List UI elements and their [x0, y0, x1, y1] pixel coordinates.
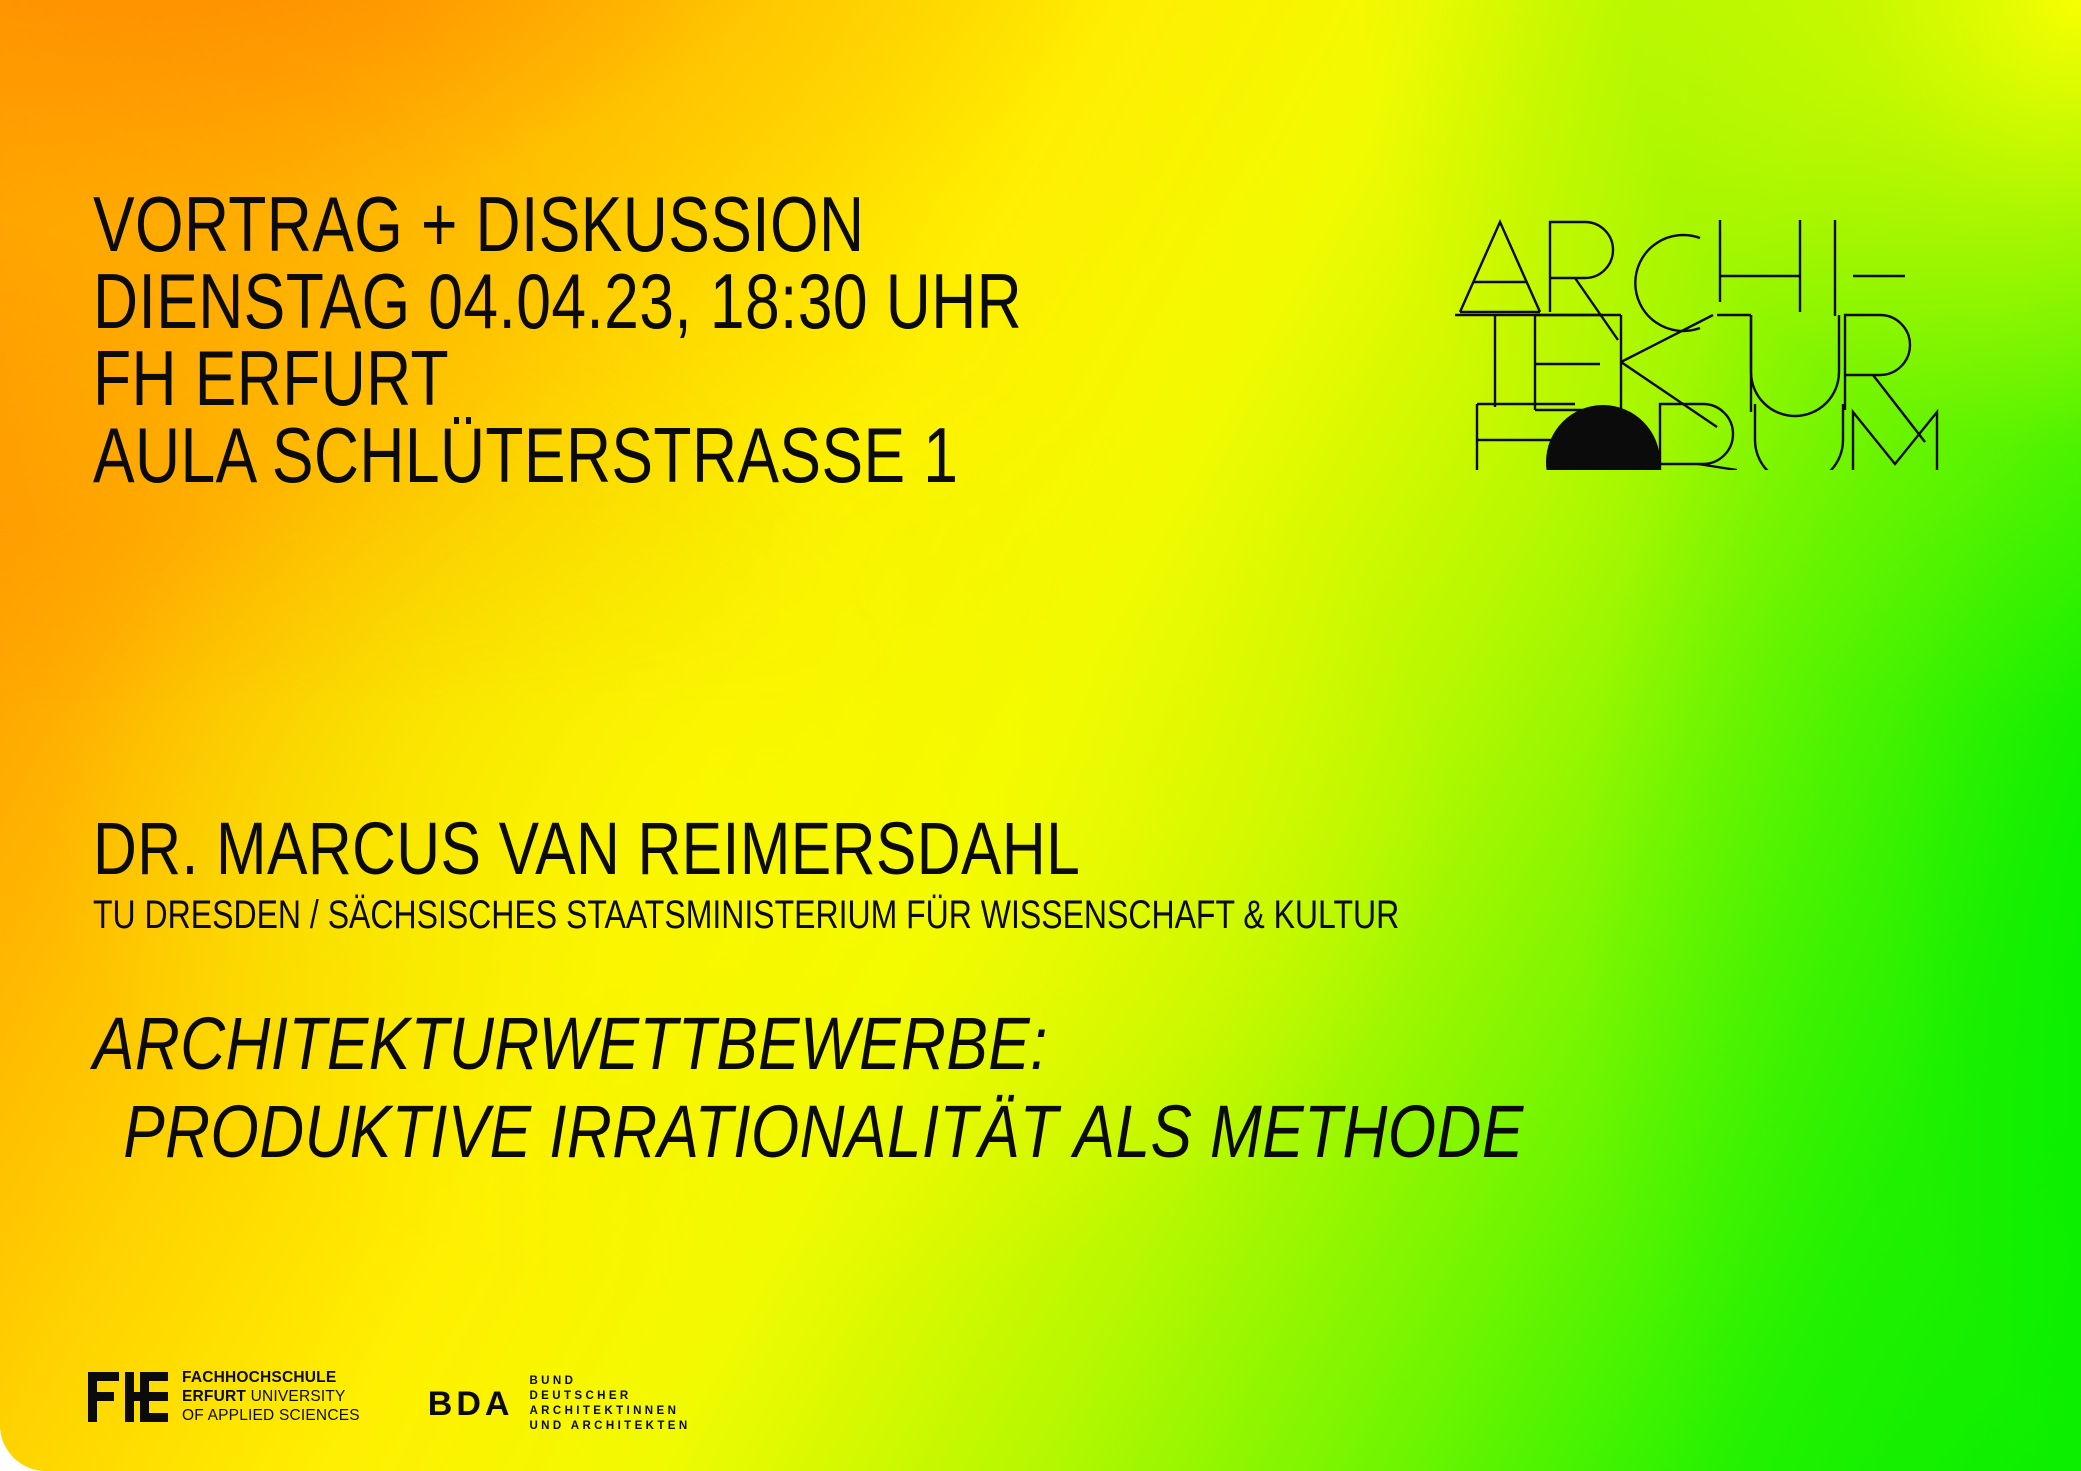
fhe-line-1: FACHHOCHSCHULE — [182, 1368, 360, 1387]
architekturforum-logo-artwork — [1455, 212, 1975, 470]
speaker-block: DR. MARCUS VAN REIMERSDAHL TU DRESDEN / … — [93, 812, 1726, 936]
event-header: VORTRAG + DISKUSSION DIENSTAG 04.04.23, … — [93, 186, 1254, 494]
event-address-line: AULA SCHLÜTERSTRASSE 1 — [93, 417, 1022, 494]
talk-title-line-2: PRODUKTIVE IRRATIONALITÄT ALS METHODE — [93, 1088, 1524, 1176]
fhe-line-2-reg: UNIVERSITY — [251, 1388, 346, 1405]
bda-wordmark: BUND DEUTSCHER ARCHITEKTINNEN UND ARCHIT… — [529, 1374, 690, 1434]
bda-line-1: BUND — [529, 1374, 690, 1389]
partner-logos: FACHHOCHSCHULE ERFURT UNIVERSITY OF APPL… — [88, 1368, 691, 1434]
logo-letter-K — [1621, 315, 1717, 427]
logo-letter-E — [1535, 315, 1621, 410]
logo-letter-U1 — [1751, 315, 1839, 416]
poster-canvas: VORTRAG + DISKUSSION DIENSTAG 04.04.23, … — [0, 0, 2081, 1471]
fhe-line-2: ERFURT UNIVERSITY — [182, 1387, 360, 1406]
bda-line-2: DEUTSCHER — [529, 1389, 690, 1404]
logo-letter-A — [1460, 222, 1540, 312]
talk-title: ARCHITEKTURWETTBEWERBE: PRODUKTIVE IRRAT… — [93, 1000, 1796, 1176]
bda-line-4: UND ARCHITEKTEN — [529, 1419, 690, 1434]
logo-letter-R2 — [1845, 315, 1925, 442]
event-type-line: VORTRAG + DISKUSSION — [93, 186, 1022, 263]
fh-erfurt-wordmark: FACHHOCHSCHULE ERFURT UNIVERSITY OF APPL… — [182, 1368, 360, 1425]
bda-line-3: ARCHITEKTINNEN — [529, 1404, 690, 1419]
logo-letter-H1 — [1720, 220, 1800, 312]
architekturforum-logo — [1455, 212, 1975, 470]
bda-mark: BDA — [428, 1387, 514, 1421]
speaker-affiliation: TU DRESDEN / SÄCHSISCHES STAATSMINISTERI… — [93, 894, 1399, 936]
bda-logo: BDA BUND DEUTSCHER ARCHITEKTINNEN UND AR… — [428, 1374, 691, 1434]
logo-letter-U2 — [1755, 404, 1843, 470]
fh-erfurt-logo: FACHHOCHSCHULE ERFURT UNIVERSITY OF APPL… — [88, 1368, 360, 1425]
logo-letter-O-circle — [1546, 405, 1660, 470]
fhe-line-3: OF APPLIED SCIENCES — [182, 1406, 360, 1425]
event-venue-line: FH ERFURT — [93, 340, 1022, 417]
event-date-line: DIENSTAG 04.04.23, 18:30 UHR — [93, 263, 1022, 340]
fhe-line-2-bold: ERFURT — [182, 1388, 246, 1405]
logo-letter-T1 — [1455, 315, 1603, 407]
logo-letter-R1 — [1550, 222, 1618, 340]
logo-letter-C — [1635, 235, 1700, 331]
fhe-mark-icon — [88, 1372, 168, 1422]
logo-letter-T2 — [1717, 315, 1751, 412]
speaker-name: DR. MARCUS VAN REIMERSDAHL — [93, 812, 1432, 886]
talk-title-line-1: ARCHITEKTURWETTBEWERBE: — [93, 1000, 1524, 1088]
